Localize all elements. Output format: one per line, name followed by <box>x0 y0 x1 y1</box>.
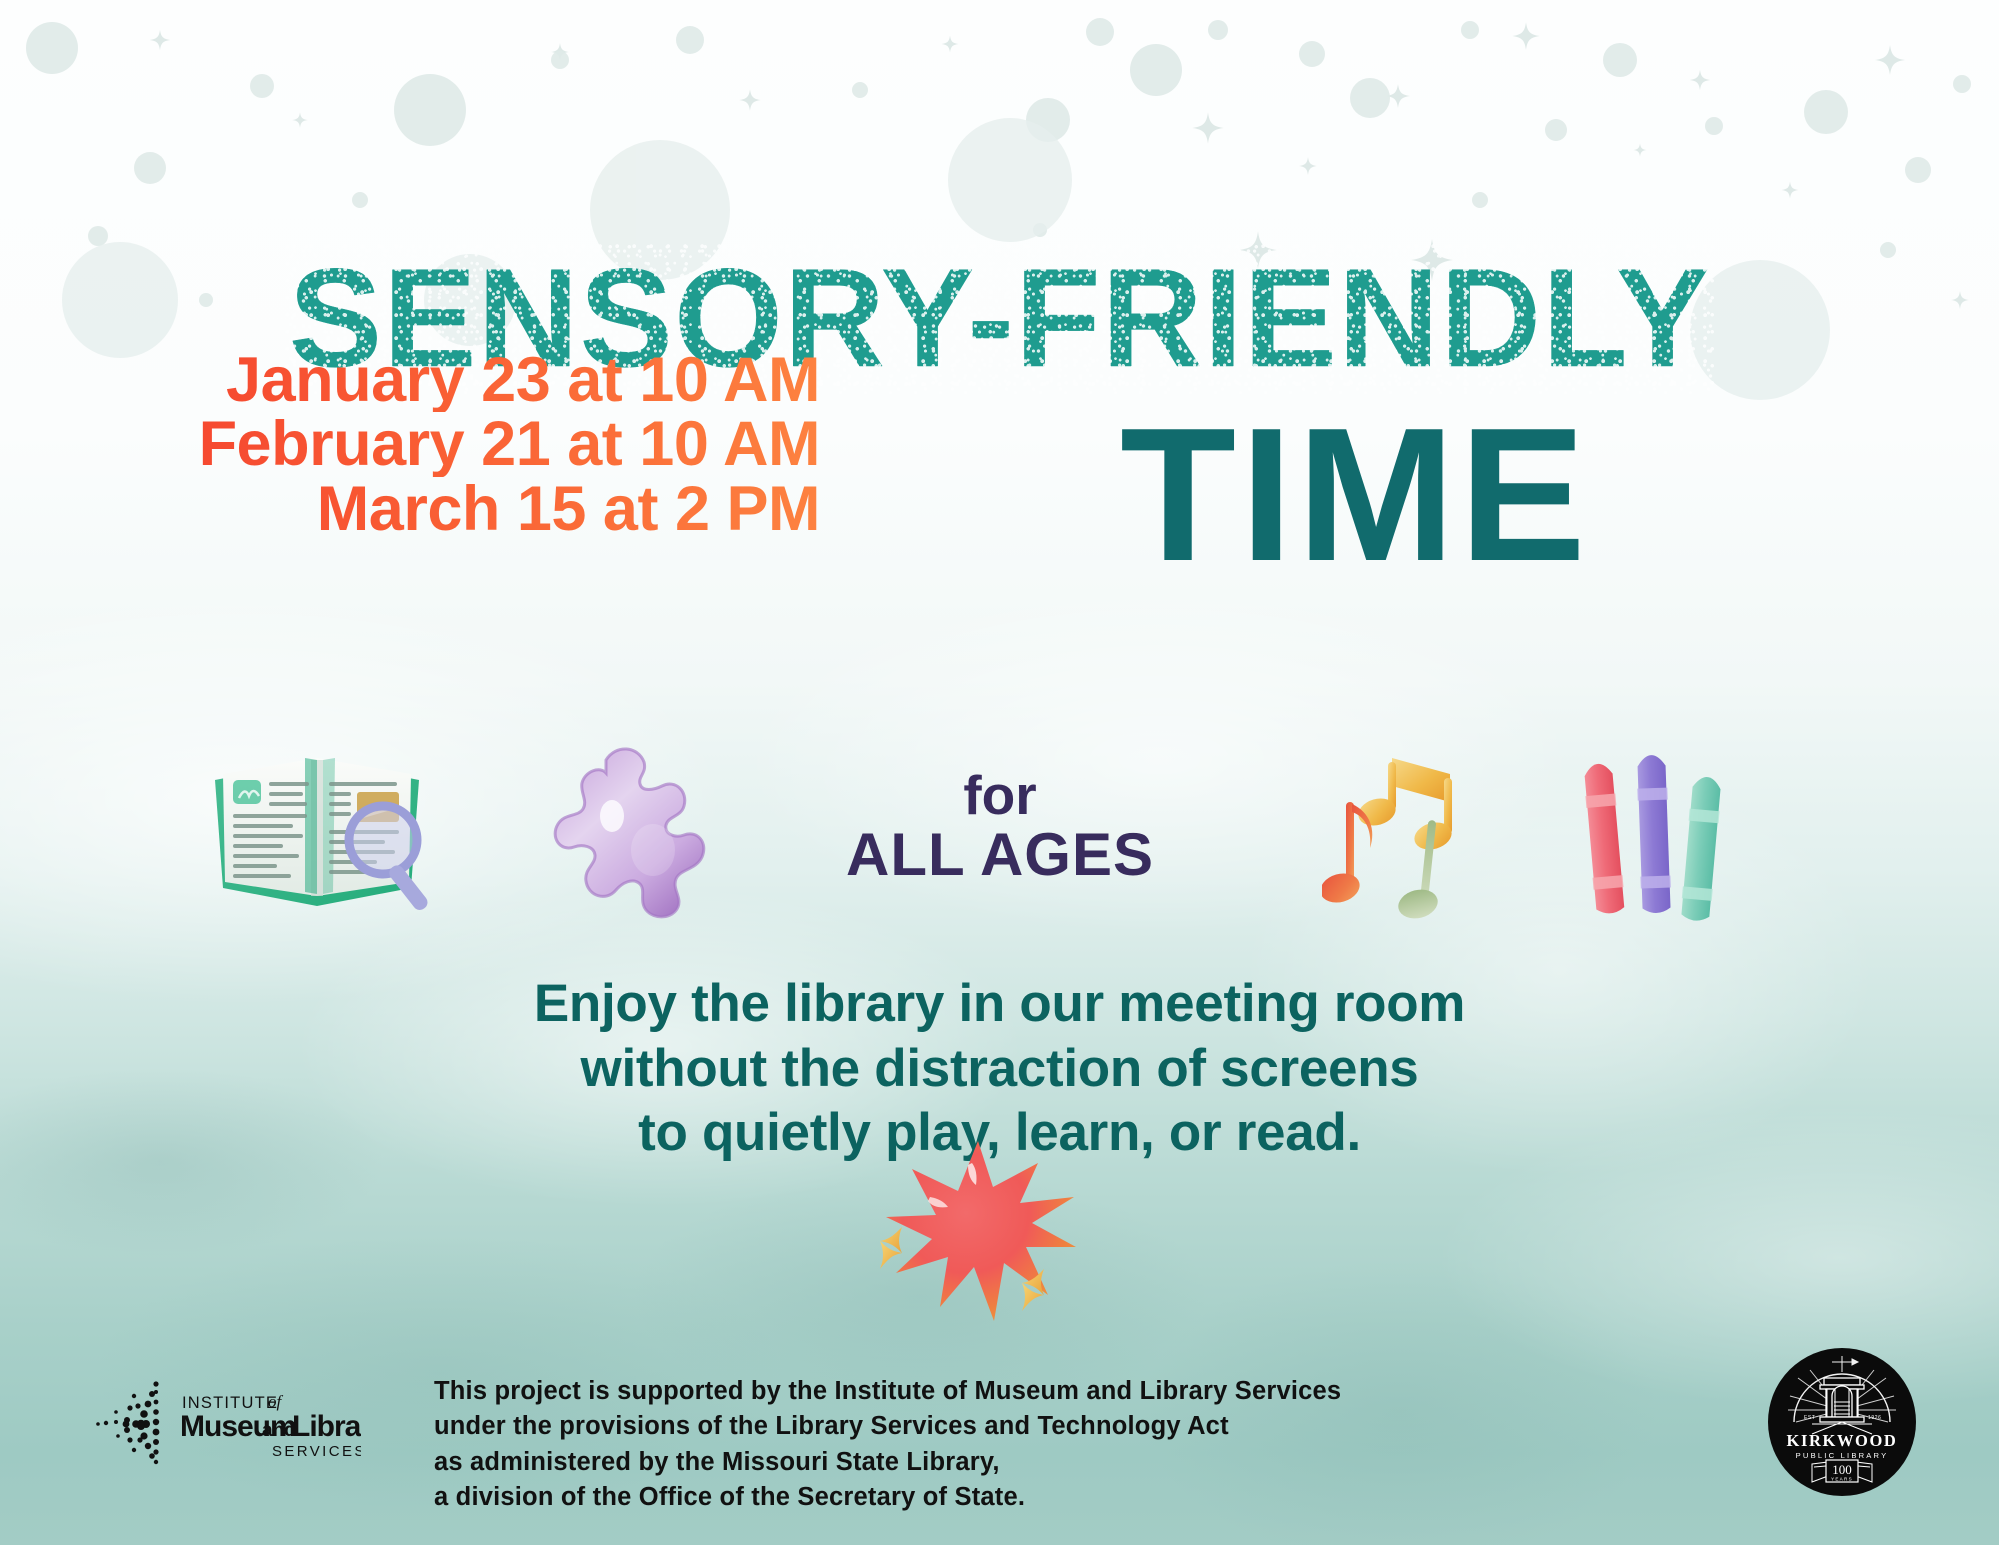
description-line-1: Enjoy the library in our meeting room <box>0 972 1999 1037</box>
funding-line-2: under the provisions of the Library Serv… <box>434 1409 1341 1444</box>
funding-line-3: as administered by the Missouri State Li… <box>434 1445 1341 1480</box>
kirkwood-est-right: 1926 <box>1868 1415 1882 1421</box>
description-line-2: without the distraction of screens <box>0 1037 1999 1102</box>
audience-label-line2: ALL AGES <box>770 823 1230 886</box>
page-title-time-word: TIME <box>1120 418 1590 574</box>
funding-line-4: a division of the Office of the Secretar… <box>434 1480 1341 1515</box>
kirkwood-anniversary-number: 100 <box>1832 1462 1852 1477</box>
kirkwood-est-left: EST <box>1804 1415 1816 1421</box>
kirkwood-anniversary-word: YEARS <box>1831 1477 1853 1482</box>
poster-canvas: SENSORY-FRIENDLY January 23 at 10 AM Feb… <box>0 0 1999 1545</box>
sparkle-burst-icon <box>862 1135 1092 1335</box>
event-date-3: March 15 at 2 PM <box>120 477 820 541</box>
open-book-with-magnifier-icon <box>205 736 435 921</box>
crayons-icon <box>1556 736 1756 931</box>
event-dates-list: January 23 at 10 AM February 21 at 10 AM… <box>120 348 820 541</box>
event-date-1: January 23 at 10 AM <box>120 348 820 412</box>
puzzle-piece-icon <box>548 730 738 925</box>
kirkwood-name-top: KIRKWOOD <box>1787 1431 1898 1450</box>
imls-dot-burst-icon <box>96 1381 159 1464</box>
kirkwood-name-bottom: PUBLIC LIBRARY <box>1796 1451 1889 1460</box>
imls-and-text: and <box>262 1420 296 1441</box>
imls-of-text: of <box>268 1392 284 1411</box>
audience-label-line1: for <box>770 768 1230 823</box>
funding-line-1: This project is supported by the Institu… <box>434 1374 1341 1409</box>
imls-logo: INSTITUTE of Museum and Library SERVICES <box>96 1378 361 1478</box>
funding-statement: This project is supported by the Institu… <box>434 1374 1341 1516</box>
audience-label: for ALL AGES <box>770 768 1230 886</box>
music-notes-icon <box>1322 728 1532 933</box>
imls-library-text: Library <box>292 1410 361 1443</box>
kirkwood-library-logo: EST 1926 KIRKWOOD PUBLIC LIBRARY 100 YEA… <box>1768 1348 1916 1496</box>
imls-services-text: SERVICES <box>272 1443 361 1460</box>
event-date-2: February 21 at 10 AM <box>120 412 820 476</box>
